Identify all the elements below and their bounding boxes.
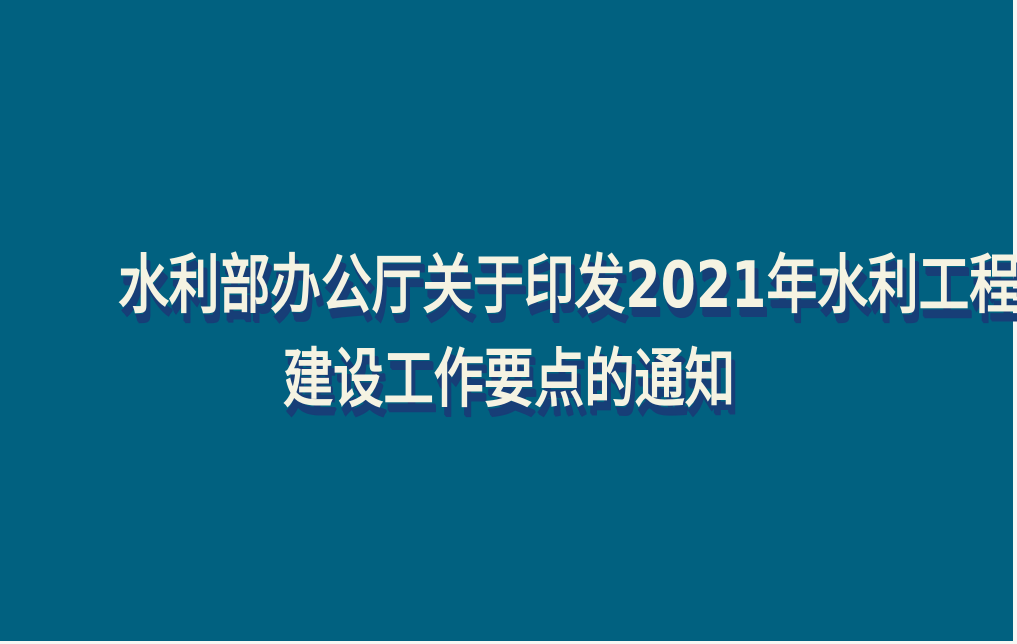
page-title: 水利部办公厅关于印发2021年水利工程 建设工作要点的通知 <box>0 250 1017 416</box>
title-banner: 水利部办公厅关于印发2021年水利工程 建设工作要点的通知 <box>0 0 1017 644</box>
title-line-1: 水利部办公厅关于印发2021年水利工程 <box>118 250 1017 322</box>
title-line-2: 建设工作要点的通知 <box>283 344 735 416</box>
